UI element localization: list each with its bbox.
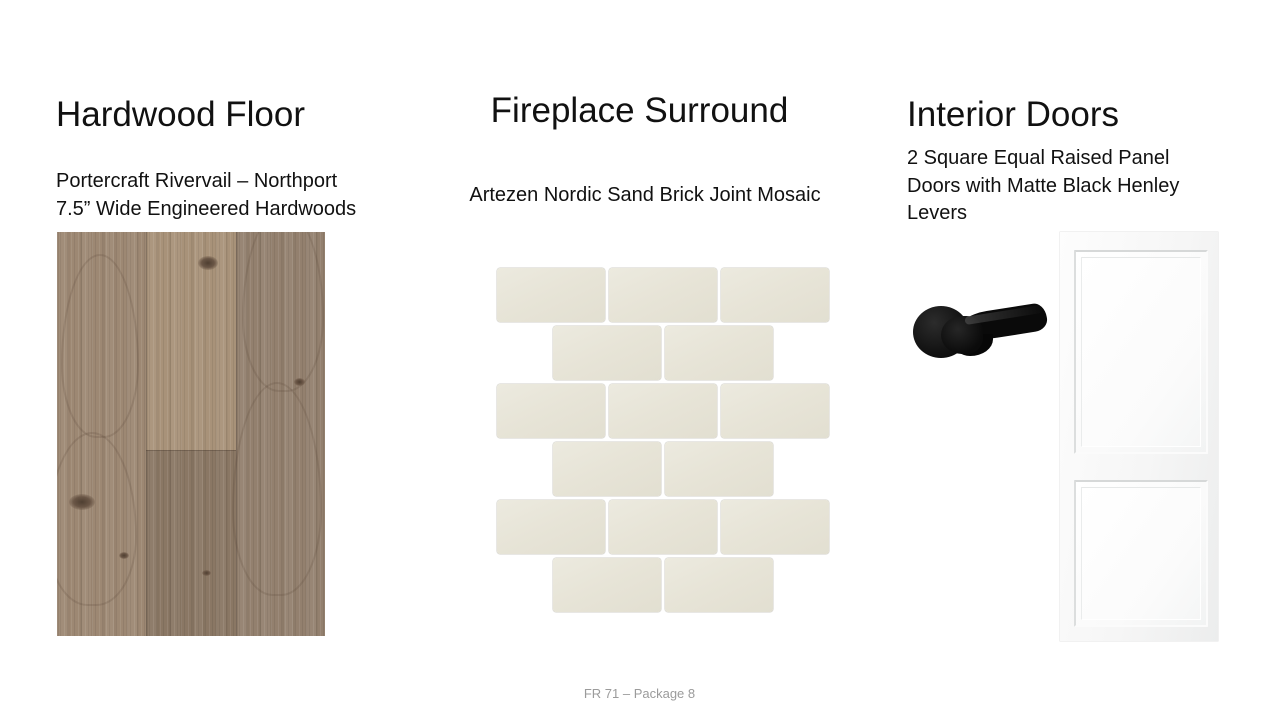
interior-doors-subtitle-line-1: 2 Square Equal Raised Panel xyxy=(907,145,1227,173)
fireplace-surround-heading-text: Fireplace Surround xyxy=(491,92,789,131)
wood-knot xyxy=(69,494,95,510)
interior-door-image xyxy=(1060,232,1218,641)
hardwood-floor-subtitle-line-1: Portercraft Rivervail – Northport xyxy=(56,168,356,196)
hardwood-floor-subtitle: Portercraft Rivervail – Northport 7.5” W… xyxy=(56,168,356,223)
wood-grain-texture xyxy=(236,232,325,636)
slide-footer: FR 71 – Package 8 xyxy=(0,686,1279,701)
wood-knot xyxy=(119,552,129,559)
wood-grain-arch xyxy=(242,232,324,392)
mosaic-tile xyxy=(665,442,773,496)
mosaic-tile xyxy=(553,442,661,496)
mosaic-tile xyxy=(497,268,605,322)
mosaic-tile xyxy=(721,500,829,554)
mosaic-tile xyxy=(609,384,717,438)
door-panel-top-inner xyxy=(1081,257,1201,447)
wood-plank-seam xyxy=(236,232,237,636)
mosaic-tile xyxy=(497,384,605,438)
interior-doors-subtitle-line-3: Levers xyxy=(907,200,1227,228)
fireplace-surround-subtitle: Artezen Nordic Sand Brick Joint Mosaic xyxy=(440,182,850,210)
mosaic-tile xyxy=(553,558,661,612)
wood-plank-middle-lower xyxy=(146,450,236,636)
fireplace-mosaic-swatch-image xyxy=(497,268,829,600)
mosaic-tile xyxy=(665,326,773,380)
interior-doors-subtitle-line-2: Doors with Matte Black Henley xyxy=(907,173,1227,201)
mosaic-tile xyxy=(497,500,605,554)
slide-canvas: Hardwood Floor Portercraft Rivervail – N… xyxy=(0,0,1279,718)
wood-grain-texture xyxy=(146,232,236,450)
hardwood-floor-subtitle-line-2: 7.5” Wide Engineered Hardwoods xyxy=(56,196,356,224)
fireplace-surround-subtitle-line-1: Artezen Nordic Sand Brick Joint Mosaic xyxy=(440,182,850,210)
door-panel-top xyxy=(1074,250,1208,454)
mosaic-tile xyxy=(721,268,829,322)
wood-plank-middle-upper xyxy=(146,232,236,450)
hardwood-floor-swatch-image xyxy=(57,232,325,636)
door-panel-bottom-inner xyxy=(1081,487,1201,620)
wood-grain-arch xyxy=(232,382,322,596)
mosaic-tile xyxy=(609,500,717,554)
interior-doors-subtitle: 2 Square Equal Raised Panel Doors with M… xyxy=(907,145,1227,228)
mosaic-tile xyxy=(609,268,717,322)
wood-plank-seam xyxy=(146,232,147,636)
wood-plank-butt-joint xyxy=(146,450,236,451)
wood-plank-right xyxy=(236,232,325,636)
mosaic-tile xyxy=(553,326,661,380)
mosaic-tile xyxy=(665,558,773,612)
wood-knot xyxy=(294,378,305,386)
wood-grain-texture xyxy=(146,450,236,636)
wood-grain-arch xyxy=(61,254,139,438)
wood-grain-arch xyxy=(57,432,137,606)
wood-plank-left xyxy=(57,232,146,636)
wood-grain-texture xyxy=(57,232,146,636)
wood-knot xyxy=(202,570,211,576)
door-panel-bottom xyxy=(1074,480,1208,627)
mosaic-tile xyxy=(721,384,829,438)
wood-knot xyxy=(198,256,218,270)
interior-doors-heading: Interior Doors xyxy=(907,96,1119,135)
matte-black-lever-handle-image xyxy=(913,300,1048,362)
